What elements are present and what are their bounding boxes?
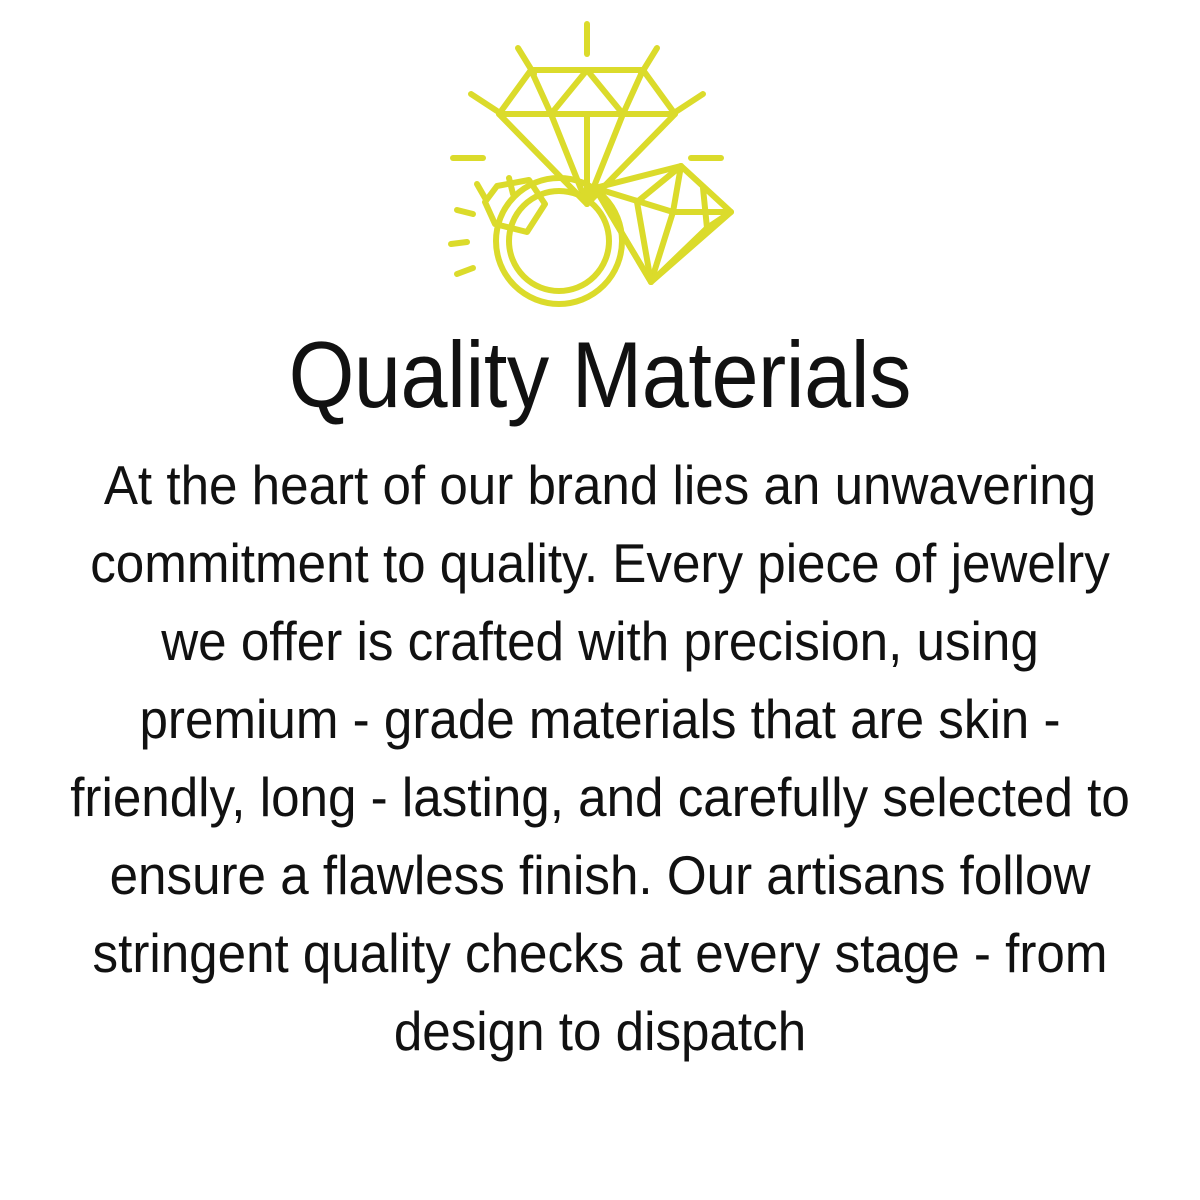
page-title: Quality Materials (289, 328, 911, 422)
feature-description: At the heart of our brand lies an unwave… (42, 446, 1158, 1070)
diamond-ring-gems-icon (435, 6, 765, 318)
quality-materials-feature-card: Quality Materials At the heart of our br… (0, 0, 1200, 1200)
